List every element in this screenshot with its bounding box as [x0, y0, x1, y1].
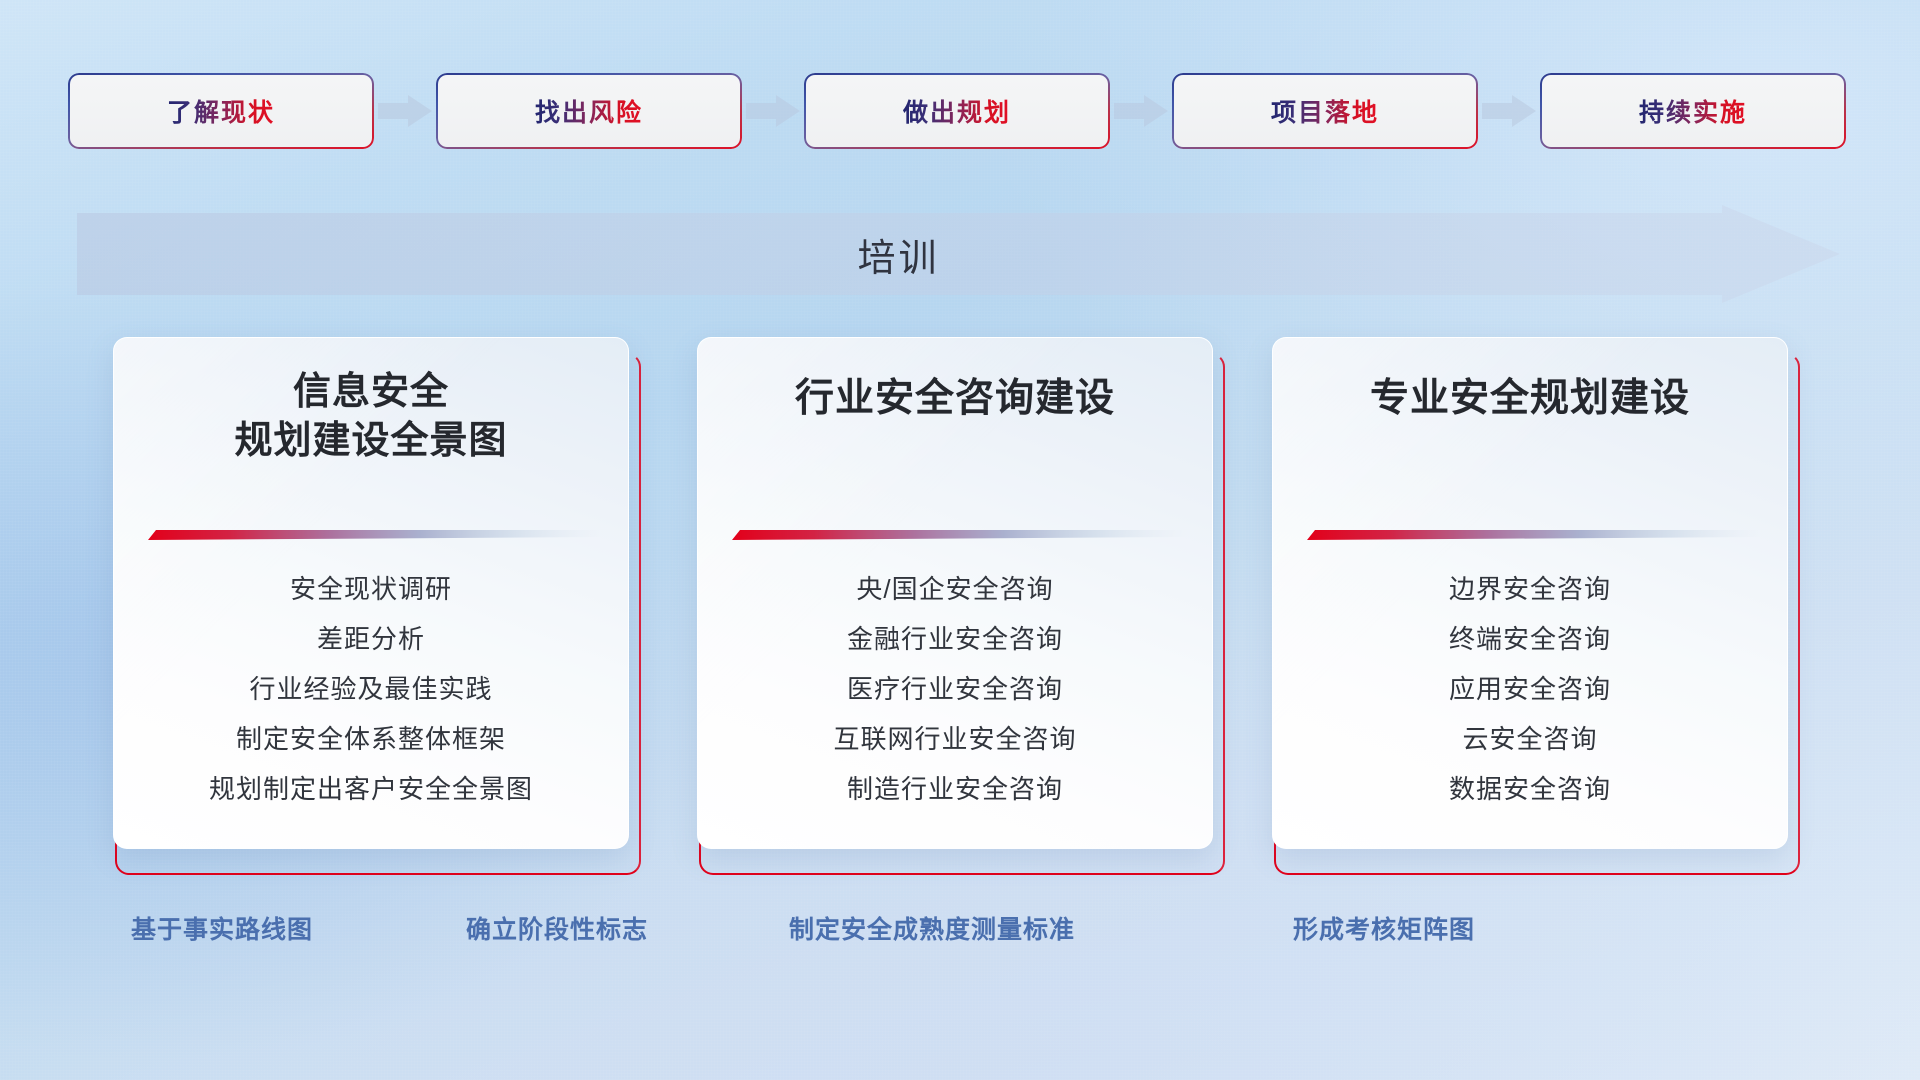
card-2-title-line1: 行业安全咨询建设	[698, 374, 1212, 424]
step-box-1[interactable]: 了解现状	[70, 75, 372, 147]
card-3-divider	[1301, 528, 1761, 544]
card-2-divider	[726, 528, 1186, 544]
card-2-body: 行业安全咨询建设	[697, 337, 1213, 849]
step-box-5[interactable]: 持续实施	[1542, 75, 1844, 147]
step-label-1: 了解现状	[167, 93, 275, 129]
step-flow: 了解现状 找出风险 做出规划 项目落地	[70, 75, 1850, 147]
right-arrow-icon	[372, 91, 438, 131]
card-3-body: 专业安全规划建设	[1272, 337, 1788, 849]
card-1-body: 信息安全 规划建设全景图	[113, 337, 629, 849]
training-banner: 培训	[77, 205, 1840, 303]
caption-3: 制定安全成熟度测量标准	[789, 910, 1075, 946]
right-arrow-icon	[740, 91, 806, 131]
step-label-3: 做出规划	[903, 93, 1011, 129]
list-item: 医疗行业安全咨询	[698, 664, 1212, 714]
card-1-divider	[142, 528, 602, 544]
list-item: 边界安全咨询	[1273, 564, 1787, 614]
card-3-title-line1: 专业安全规划建设	[1273, 374, 1787, 424]
step-label-2: 找出风险	[535, 93, 643, 129]
list-item: 央/国企安全咨询	[698, 564, 1212, 614]
card-3-title: 专业安全规划建设	[1273, 374, 1787, 424]
card-2-list: 央/国企安全咨询 金融行业安全咨询 医疗行业安全咨询 互联网行业安全咨询 制造行…	[698, 564, 1212, 814]
card-1[interactable]: 信息安全 规划建设全景图	[113, 337, 641, 875]
card-3[interactable]: 专业安全规划建设	[1272, 337, 1800, 875]
card-2[interactable]: 行业安全咨询建设	[697, 337, 1225, 875]
card-1-title-line1: 信息安全	[114, 368, 628, 417]
list-item: 终端安全咨询	[1273, 614, 1787, 664]
list-item: 差距分析	[114, 614, 628, 664]
list-item: 金融行业安全咨询	[698, 614, 1212, 664]
step-box-2[interactable]: 找出风险	[438, 75, 740, 147]
card-2-title: 行业安全咨询建设	[698, 374, 1212, 424]
list-item: 互联网行业安全咨询	[698, 714, 1212, 764]
list-item: 规划制定出客户安全全景图	[114, 764, 628, 814]
step-label-5: 持续实施	[1639, 93, 1747, 129]
list-item: 应用安全咨询	[1273, 664, 1787, 714]
caption-row: 基于事实路线图 确立阶段性标志 制定安全成熟度测量标准 形成考核矩阵图	[0, 910, 1920, 970]
list-item: 数据安全咨询	[1273, 764, 1787, 814]
right-arrow-icon	[1108, 91, 1174, 131]
card-1-list: 安全现状调研 差距分析 行业经验及最佳实践 制定安全体系整体框架 规划制定出客户…	[114, 564, 628, 814]
list-item: 行业经验及最佳实践	[114, 664, 628, 714]
card-1-title: 信息安全 规划建设全景图	[114, 368, 628, 465]
banner-label: 培训	[77, 205, 1720, 303]
step-label-4: 项目落地	[1271, 93, 1379, 129]
caption-2: 确立阶段性标志	[466, 910, 648, 946]
list-item: 安全现状调研	[114, 564, 628, 614]
step-box-3[interactable]: 做出规划	[806, 75, 1108, 147]
card-3-list: 边界安全咨询 终端安全咨询 应用安全咨询 云安全咨询 数据安全咨询	[1273, 564, 1787, 814]
caption-1: 基于事实路线图	[131, 910, 313, 946]
list-item: 制定安全体系整体框架	[114, 714, 628, 764]
list-item: 云安全咨询	[1273, 714, 1787, 764]
card-1-title-line2: 规划建设全景图	[114, 417, 628, 466]
card-group: 信息安全 规划建设全景图	[0, 337, 1920, 875]
right-arrow-icon	[1476, 91, 1542, 131]
list-item: 制造行业安全咨询	[698, 764, 1212, 814]
step-box-4[interactable]: 项目落地	[1174, 75, 1476, 147]
slide-canvas: 了解现状 找出风险 做出规划 项目落地	[0, 0, 1920, 1080]
caption-4: 形成考核矩阵图	[1293, 910, 1475, 946]
